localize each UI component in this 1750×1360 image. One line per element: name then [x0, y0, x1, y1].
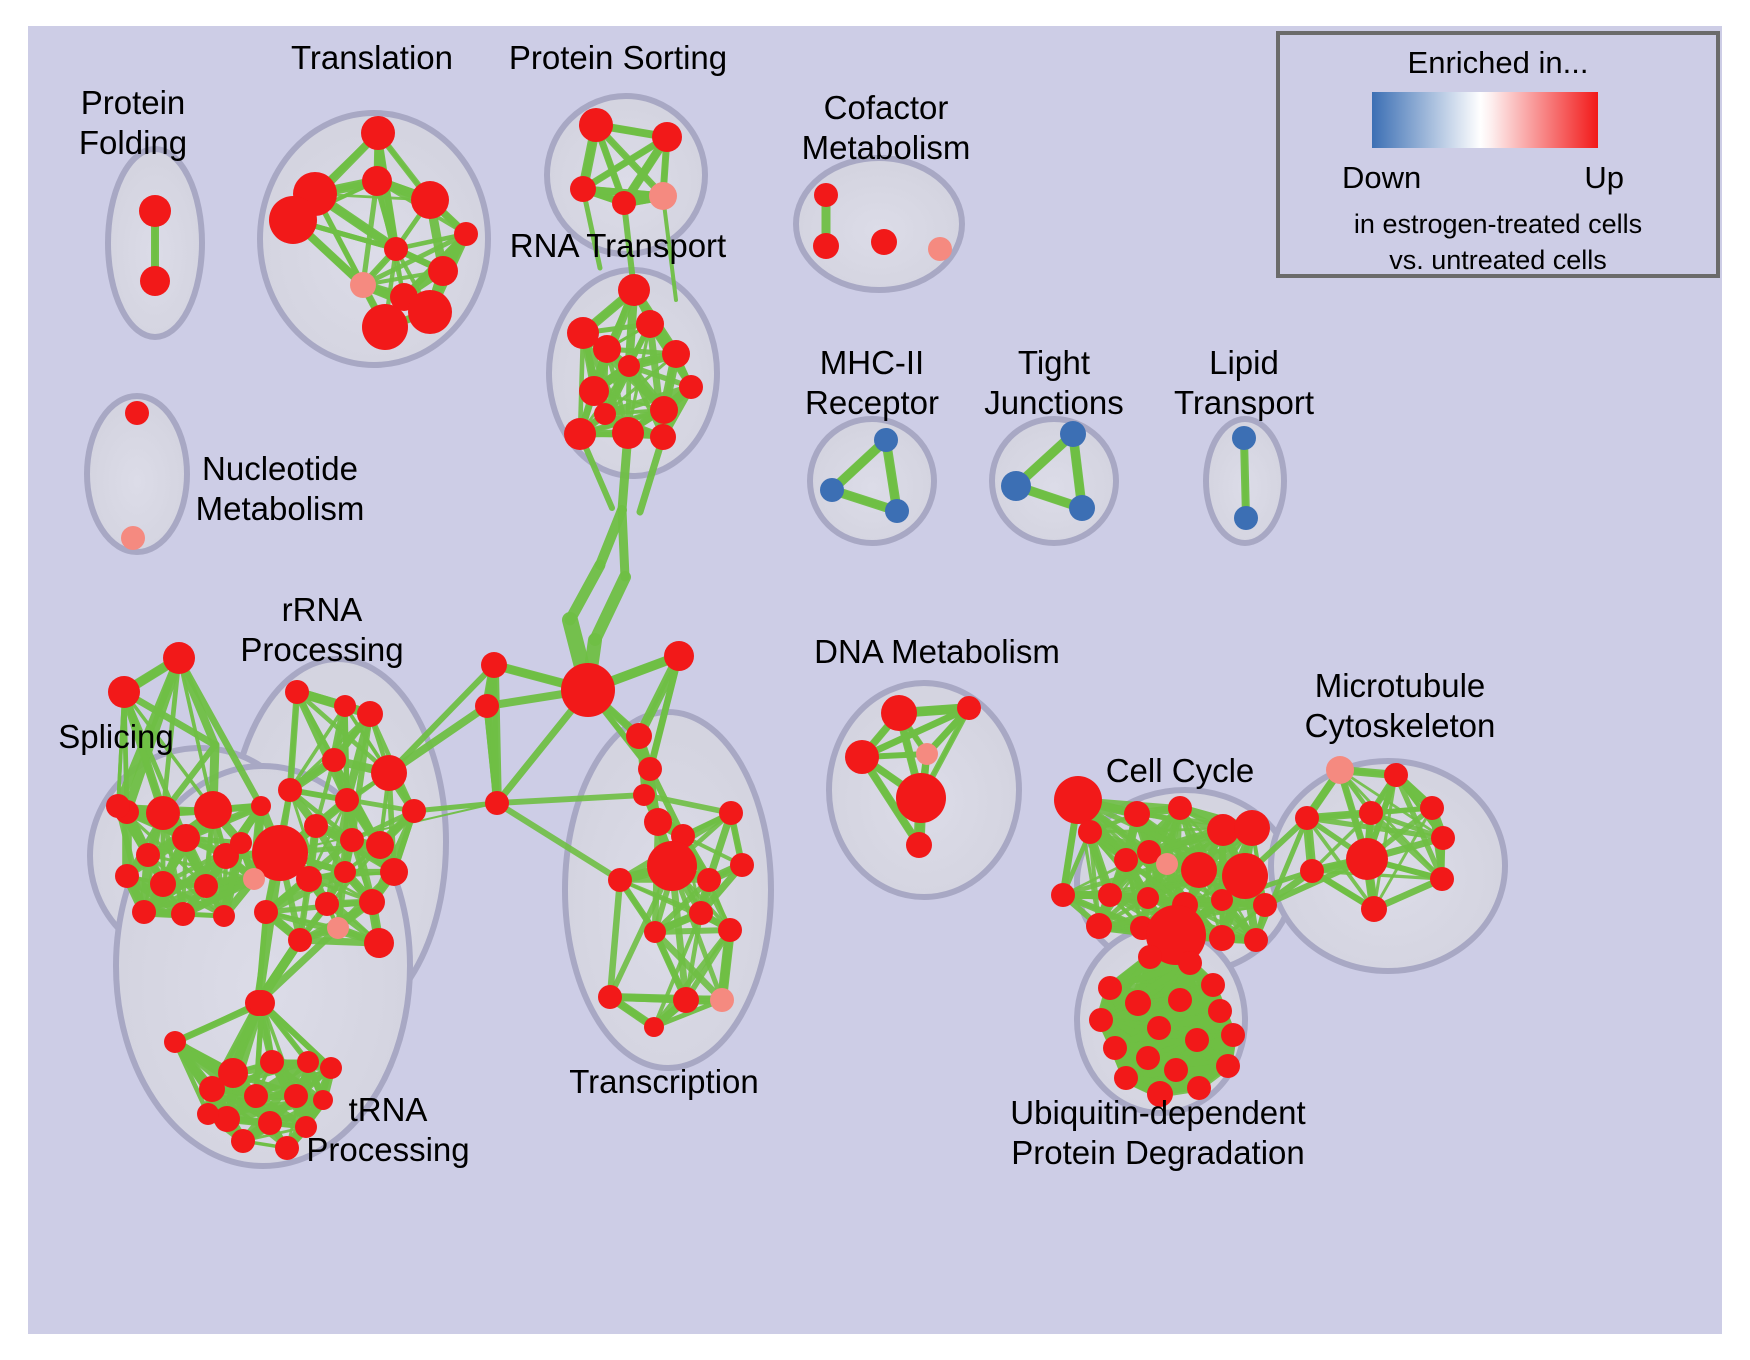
network-node[interactable] [194, 874, 218, 898]
network-node[interactable] [335, 788, 359, 812]
network-node[interactable] [115, 864, 139, 888]
network-node[interactable] [928, 237, 952, 261]
cluster-label-transcription: Transcription [569, 1063, 759, 1100]
network-node[interactable] [121, 526, 145, 550]
network-node[interactable] [334, 861, 356, 883]
network-node[interactable] [679, 375, 703, 399]
network-node[interactable] [362, 166, 392, 196]
network-node[interactable] [315, 892, 339, 916]
network-node[interactable] [1114, 848, 1138, 872]
network-node[interactable] [359, 889, 385, 915]
network-node[interactable] [361, 116, 395, 150]
network-node[interactable] [1300, 859, 1324, 883]
network-node[interactable] [1209, 925, 1235, 951]
network-node[interactable] [644, 1017, 664, 1037]
network-node[interactable] [1211, 889, 1233, 911]
network-node[interactable] [1001, 471, 1031, 501]
network-node[interactable] [244, 1084, 268, 1108]
network-node[interactable] [594, 403, 616, 425]
cluster-label-rna-transport: RNA Transport [510, 227, 726, 264]
network-node[interactable] [136, 843, 160, 867]
network-node[interactable] [402, 799, 426, 823]
network-node[interactable] [1168, 988, 1192, 1012]
network-node[interactable] [664, 641, 694, 671]
network-node[interactable] [366, 831, 394, 859]
network-node[interactable] [1244, 928, 1268, 952]
network-edge [622, 510, 625, 577]
network-node[interactable] [481, 652, 507, 678]
network-node[interactable] [172, 824, 200, 852]
network-node[interactable] [258, 1111, 282, 1135]
network-node[interactable] [649, 182, 677, 210]
network-node[interactable] [1060, 421, 1086, 447]
network-node[interactable] [1136, 1046, 1160, 1070]
network-node[interactable] [163, 642, 195, 674]
network-node[interactable] [243, 868, 265, 890]
network-node[interactable] [171, 902, 195, 926]
network-node[interactable] [564, 418, 596, 450]
network-node[interactable] [638, 757, 662, 781]
cluster-hull-cofactor-metabolism [796, 158, 962, 290]
network-node[interactable] [1138, 945, 1162, 969]
network-node[interactable] [320, 1057, 342, 1079]
network-node[interactable] [652, 122, 682, 152]
network-node[interactable] [1430, 867, 1454, 891]
network-node[interactable] [1114, 1066, 1138, 1090]
network-node[interactable] [1234, 810, 1270, 846]
network-node[interactable] [598, 985, 622, 1009]
network-node[interactable] [194, 791, 232, 829]
network-node[interactable] [230, 832, 252, 854]
cluster-label-splicing: Splicing [58, 718, 174, 755]
network-node[interactable] [561, 663, 615, 717]
network-node[interactable] [1178, 951, 1202, 975]
network-node[interactable] [231, 1129, 255, 1153]
cluster-label-protein-sorting: Protein Sorting [509, 39, 727, 76]
network-node[interactable] [570, 176, 596, 202]
network-node[interactable] [284, 1084, 308, 1108]
network-node[interactable] [813, 233, 839, 259]
network-node[interactable] [633, 784, 655, 806]
network-node[interactable] [612, 191, 636, 215]
network-node[interactable] [618, 274, 650, 306]
network-node[interactable] [1361, 896, 1387, 922]
network-node[interactable] [313, 1090, 333, 1110]
network-node[interactable] [428, 256, 458, 286]
network-node[interactable] [1051, 883, 1075, 907]
network-node[interactable] [1125, 990, 1151, 1016]
network-node[interactable] [213, 905, 235, 927]
network-node[interactable] [644, 808, 672, 836]
network-node[interactable] [1208, 999, 1232, 1023]
network-node[interactable] [1069, 495, 1095, 521]
network-node[interactable] [650, 424, 676, 450]
network-node[interactable] [269, 196, 317, 244]
network-node[interactable] [644, 921, 666, 943]
network-node[interactable] [334, 695, 356, 717]
network-node[interactable] [1431, 826, 1455, 850]
network-node[interactable] [1326, 756, 1354, 784]
network-node[interactable] [139, 195, 171, 227]
network-node[interactable] [1234, 506, 1258, 530]
network-node[interactable] [322, 748, 346, 772]
network-node[interactable] [1124, 801, 1150, 827]
cluster-label-dna-metabolism: DNA Metabolism [814, 633, 1060, 670]
network-node[interactable] [593, 335, 621, 363]
network-node[interactable] [1185, 1028, 1209, 1052]
network-node[interactable] [1359, 801, 1383, 825]
network-node[interactable] [1168, 796, 1192, 820]
network-node[interactable] [626, 723, 652, 749]
network-node[interactable] [906, 832, 932, 858]
network-node[interactable] [885, 499, 909, 523]
network-node[interactable] [296, 866, 322, 892]
network-node[interactable] [916, 743, 938, 765]
network-node[interactable] [874, 428, 898, 452]
network-node[interactable] [475, 694, 499, 718]
network-node[interactable] [371, 755, 407, 791]
network-node[interactable] [1098, 883, 1122, 907]
network-node[interactable] [636, 310, 664, 338]
network-node[interactable] [150, 871, 176, 897]
network-node[interactable] [820, 478, 844, 502]
legend: Enriched in... Down Up in estrogen-treat… [1278, 33, 1718, 276]
network-node[interactable] [357, 701, 383, 727]
network-node[interactable] [108, 676, 140, 708]
network-node[interactable] [579, 376, 609, 406]
network-node[interactable] [251, 796, 271, 816]
network-node[interactable] [650, 396, 678, 424]
legend-color-bar [1372, 92, 1598, 148]
network-node[interactable] [871, 229, 897, 255]
network-node[interactable] [1253, 893, 1277, 917]
network-node[interactable] [350, 272, 376, 298]
network-node[interactable] [1181, 852, 1217, 888]
network-node[interactable] [1420, 796, 1444, 820]
network-node[interactable] [719, 801, 743, 825]
network-node[interactable] [1098, 976, 1122, 1000]
legend-sublabel-line2: vs. untreated cells [1389, 245, 1607, 275]
network-node[interactable] [125, 401, 149, 425]
network-node[interactable] [260, 1050, 284, 1074]
legend-sublabel-line1: in estrogen-treated cells [1354, 209, 1642, 239]
network-node[interactable] [1103, 1036, 1127, 1060]
network-node[interactable] [881, 695, 917, 731]
network-node[interactable] [380, 858, 408, 886]
network-node[interactable] [285, 680, 309, 704]
network-node[interactable] [845, 740, 879, 774]
figure-canvas: ProteinFoldingTranslationProtein Sorting… [0, 0, 1750, 1360]
network-node[interactable] [618, 355, 640, 377]
network-node[interactable] [1137, 887, 1159, 909]
network-node[interactable] [132, 900, 156, 924]
network-node[interactable] [340, 828, 364, 852]
cluster-label-cell-cycle: Cell Cycle [1106, 752, 1255, 789]
network-node[interactable] [710, 988, 734, 1012]
network-node[interactable] [254, 900, 278, 924]
network-node[interactable] [454, 222, 478, 246]
network-node[interactable] [408, 290, 452, 334]
enrichment-network: ProteinFoldingTranslationProtein Sorting… [0, 0, 1750, 1360]
network-node[interactable] [411, 181, 449, 219]
network-node[interactable] [647, 841, 697, 891]
network-node[interactable] [1295, 806, 1319, 830]
network-node[interactable] [1384, 763, 1408, 787]
network-node[interactable] [1221, 1023, 1245, 1047]
network-node[interactable] [106, 794, 130, 818]
legend-title: Enriched in... [1408, 45, 1589, 80]
network-node[interactable] [1156, 853, 1178, 875]
network-node[interactable] [896, 773, 946, 823]
network-node[interactable] [164, 1031, 186, 1053]
network-node[interactable] [140, 266, 170, 296]
network-node[interactable] [673, 987, 699, 1013]
network-node[interactable] [146, 796, 180, 830]
network-node[interactable] [1078, 820, 1102, 844]
network-node[interactable] [1089, 1008, 1113, 1032]
network-node[interactable] [1216, 1054, 1240, 1078]
network-node[interactable] [304, 814, 328, 838]
network-node[interactable] [1164, 1058, 1188, 1082]
network-node[interactable] [814, 183, 838, 207]
network-node[interactable] [1232, 426, 1256, 450]
network-node[interactable] [697, 868, 721, 892]
network-node[interactable] [1054, 776, 1102, 824]
legend-up-label: Up [1584, 160, 1624, 195]
network-node[interactable] [327, 917, 349, 939]
network-node[interactable] [1346, 838, 1388, 880]
network-node[interactable] [1086, 913, 1112, 939]
network-node[interactable] [485, 791, 509, 815]
cluster-label-translation: Translation [291, 39, 453, 76]
network-node[interactable] [297, 1051, 319, 1073]
network-edge [494, 665, 497, 803]
network-node[interactable] [718, 918, 742, 942]
network-node[interactable] [278, 778, 302, 802]
network-node[interactable] [957, 696, 981, 720]
network-node[interactable] [384, 237, 408, 261]
network-edge [1244, 438, 1246, 518]
network-node[interactable] [579, 108, 613, 142]
network-node[interactable] [364, 928, 394, 958]
network-node[interactable] [730, 853, 754, 877]
network-node[interactable] [288, 928, 312, 952]
network-node[interactable] [689, 901, 713, 925]
network-node[interactable] [249, 990, 275, 1016]
network-node[interactable] [362, 304, 408, 350]
network-node[interactable] [612, 417, 644, 449]
network-node[interactable] [197, 1103, 219, 1125]
network-node[interactable] [608, 868, 632, 892]
network-node[interactable] [1201, 973, 1225, 997]
network-node[interactable] [275, 1136, 299, 1160]
legend-down-label: Down [1342, 160, 1421, 195]
network-node[interactable] [199, 1076, 225, 1102]
network-node[interactable] [662, 340, 690, 368]
network-node[interactable] [1147, 1016, 1171, 1040]
